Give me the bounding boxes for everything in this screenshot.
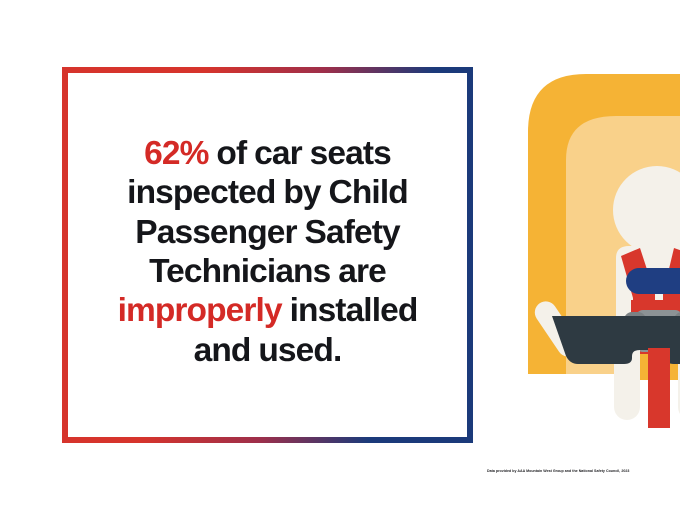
- crotch-strap-lower: [648, 348, 670, 370]
- statistic-line3: Passenger Safety: [135, 214, 399, 251]
- statistic-line2: inspected by Child: [127, 174, 408, 211]
- statistic-headline: 62% of car seats inspected by Child Pass…: [104, 134, 432, 376]
- statistic-line1-rest: of car seats: [209, 135, 391, 172]
- statistic-line5-rest: installed: [282, 292, 418, 329]
- statistic-frame-inner: 62% of car seats inspected by Child Pass…: [68, 73, 467, 437]
- infographic-canvas: 62% of car seats inspected by Child Pass…: [0, 0, 680, 510]
- statistic-line6: and used.: [194, 332, 342, 369]
- attribution-text: Data provided by AAA Mountain West Group…: [487, 469, 673, 473]
- child-in-car-seat-illustration: [528, 62, 680, 368]
- statistic-percent: 62%: [144, 135, 208, 172]
- statistic-frame: 62% of car seats inspected by Child Pass…: [62, 67, 473, 443]
- statistic-accent-improperly: improperly: [118, 292, 282, 329]
- statistic-line4: Technicians are: [149, 253, 386, 290]
- chest-clip: [626, 268, 680, 294]
